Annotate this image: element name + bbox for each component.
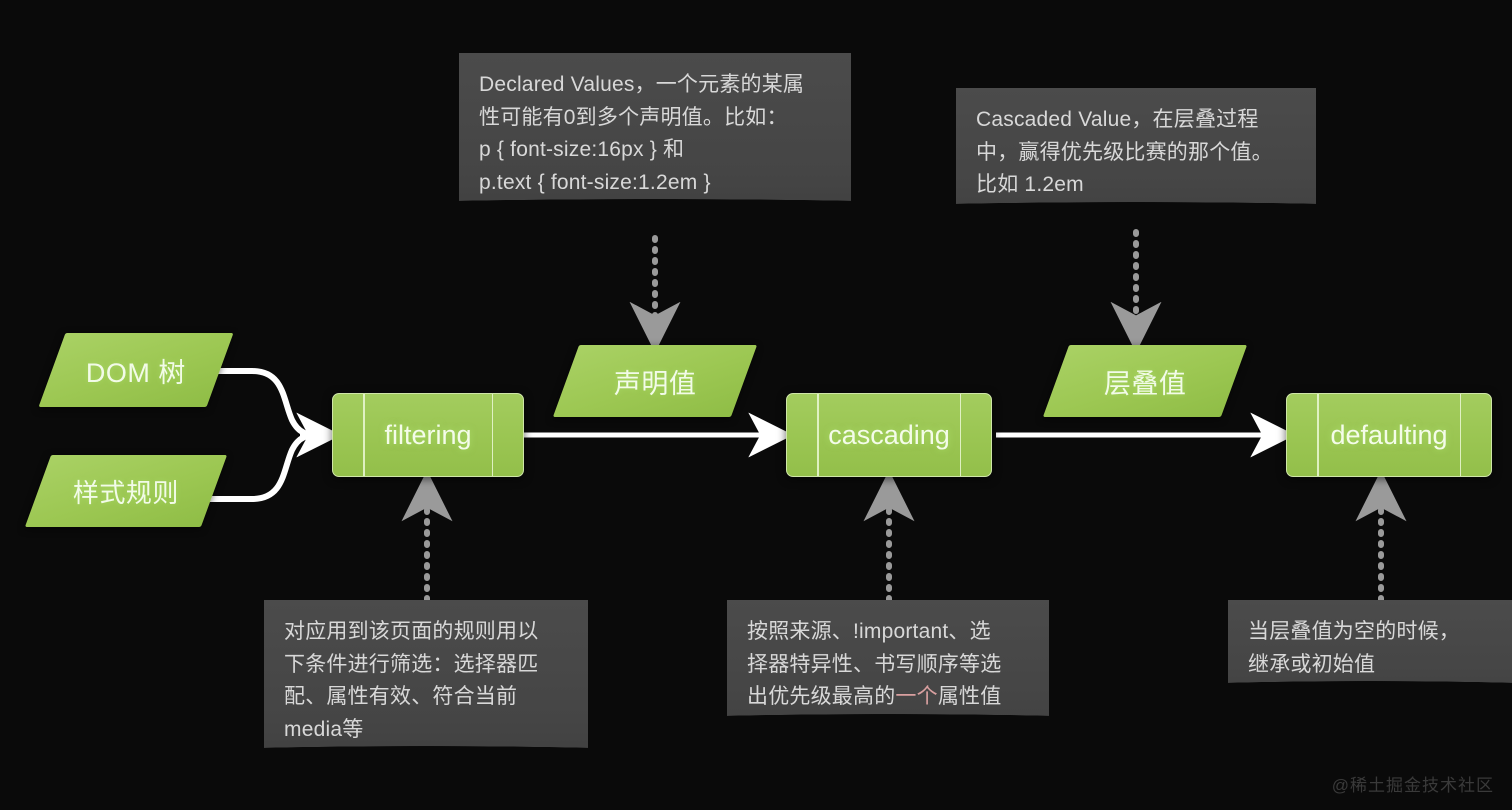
note-cascaded-line-1: Cascaded Value，在层叠过程 (976, 104, 1296, 137)
node-style-rules-label: 样式规则 (73, 473, 179, 510)
note-filtering-line-3: 配、属性有效、符合当前 (284, 681, 568, 714)
note-cascading-line-2: 择器特异性、书写顺序等选 (747, 649, 1029, 682)
note-defaulting-line-2: 继承或初始值 (1248, 649, 1492, 682)
note-defaulting-line-1: 当层叠值为空的时候， (1248, 616, 1492, 649)
note-defaulting: 当层叠值为空的时候， 继承或初始值 (1228, 600, 1512, 707)
note-cascading-line-3-suffix: 属性值 (938, 685, 1002, 708)
note-declared-values: Declared Values，一个元素的某属 性可能有0到多个声明值。比如： … (459, 53, 851, 225)
node-dom-tree[interactable]: DOM 树 (39, 333, 234, 407)
note-cascading-line-1: 按照来源、!important、选 (747, 616, 1029, 649)
watermark: @稀土掘金技术社区 (1332, 771, 1494, 796)
node-cascaded-value[interactable]: 层叠值 (1043, 345, 1247, 417)
note-filtering: 对应用到该页面的规则用以 下条件进行筛选：选择器匹 配、属性有效、符合当前 me… (264, 600, 588, 772)
node-cascading-label: cascading (828, 420, 950, 451)
node-cascading[interactable]: cascading (786, 393, 992, 477)
node-defaulting-label: defaulting (1330, 420, 1447, 451)
note-declared-line-1: Declared Values，一个元素的某属 (479, 69, 831, 102)
note-cascading-line-3-prefix: 出优先级最高的 (747, 685, 895, 708)
note-filtering-line-1: 对应用到该页面的规则用以 (284, 616, 568, 649)
node-declared-value[interactable]: 声明值 (553, 345, 757, 417)
node-filtering-label: filtering (384, 420, 471, 451)
note-cascading-highlight: 一个 (895, 685, 937, 708)
note-filtering-line-4: media等 (284, 714, 568, 747)
node-style-rules[interactable]: 样式规则 (25, 455, 227, 527)
note-cascaded-line-3: 比如 1.2em (976, 169, 1296, 202)
node-cascaded-value-label: 层叠值 (1104, 362, 1187, 401)
note-declared-line-4: p.text { font-size:1.2em } (479, 167, 831, 200)
note-cascading: 按照来源、!important、选 择器特异性、书写顺序等选 出优先级最高的一个… (727, 600, 1049, 740)
diagram-canvas: DOM 树 样式规则 声明值 层叠值 filtering cascading d… (0, 0, 1512, 810)
node-dom-tree-label: DOM 树 (86, 351, 186, 390)
note-declared-line-3: p { font-size:16px } 和 (479, 134, 831, 167)
node-declared-value-label: 声明值 (614, 362, 697, 401)
node-filtering[interactable]: filtering (332, 393, 524, 477)
note-declared-line-2: 性可能有0到多个声明值。比如： (479, 102, 831, 135)
note-cascaded-value: Cascaded Value，在层叠过程 中，赢得优先级比赛的那个值。 比如 1… (956, 88, 1316, 228)
note-cascaded-line-2: 中，赢得优先级比赛的那个值。 (976, 137, 1296, 170)
note-cascading-line-3: 出优先级最高的一个属性值 (747, 681, 1029, 714)
node-defaulting[interactable]: defaulting (1286, 393, 1492, 477)
note-filtering-line-2: 下条件进行筛选：选择器匹 (284, 649, 568, 682)
